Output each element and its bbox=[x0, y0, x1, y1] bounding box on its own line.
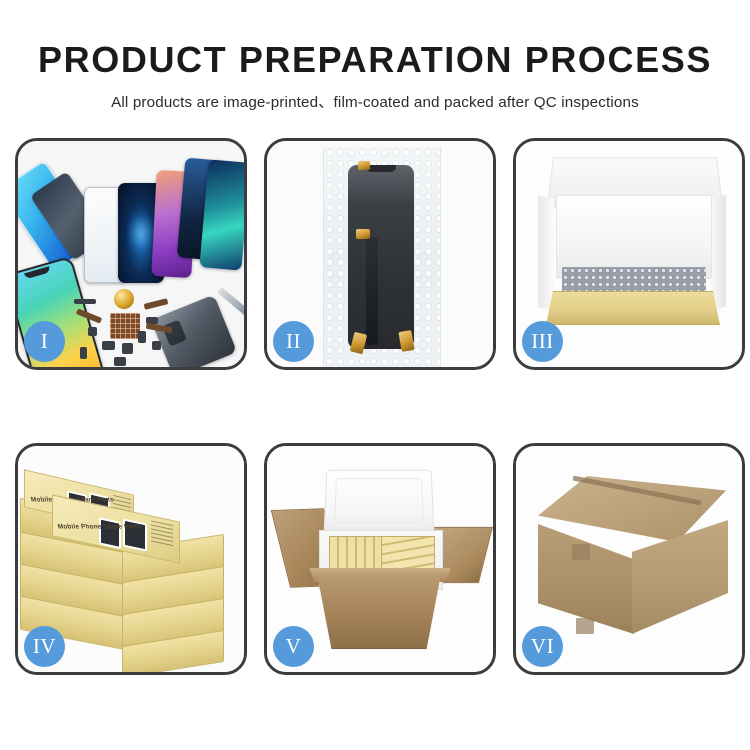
step-5-illustration: V bbox=[267, 446, 493, 672]
step-2-illustration: II bbox=[267, 141, 493, 367]
small-part bbox=[88, 327, 97, 336]
gold-connector-tab bbox=[358, 161, 370, 170]
step-badge-1: I bbox=[24, 321, 65, 362]
small-part bbox=[102, 341, 115, 350]
small-part bbox=[122, 343, 133, 354]
step-4-illustration: Mobile Phone Spare Parts Mobile Phone Sp… bbox=[18, 446, 244, 672]
vibration-motor-part bbox=[114, 289, 134, 309]
step-badge-6: VI bbox=[522, 626, 563, 667]
small-part bbox=[114, 357, 126, 366]
wrapped-flex-cable bbox=[366, 237, 378, 345]
page-subtitle: All products are image-printed、film-coat… bbox=[0, 79, 750, 112]
box-product-photo bbox=[99, 517, 121, 549]
carton-tape-patch bbox=[576, 618, 594, 634]
gold-connector-tab bbox=[356, 229, 370, 239]
step-panel-1[interactable]: I Mobile phone screens and spare compone… bbox=[15, 138, 247, 370]
small-part bbox=[152, 341, 161, 350]
page-header: PRODUCT PREPARATION PROCESS All products… bbox=[0, 0, 750, 112]
step-panel-4[interactable]: Mobile Phone Spare Parts Mobile Phone Sp… bbox=[15, 443, 247, 675]
foam-box-lid bbox=[324, 470, 435, 534]
page-title: PRODUCT PREPARATION PROCESS bbox=[0, 0, 750, 79]
carton-tape-patch bbox=[572, 544, 590, 560]
small-part bbox=[74, 299, 96, 304]
step-badge-3: III bbox=[522, 321, 563, 362]
circuit-board-part bbox=[110, 313, 140, 339]
step-badge-5: V bbox=[273, 626, 314, 667]
box-spec-lines bbox=[151, 520, 173, 549]
bubble-wrap-bag bbox=[323, 147, 441, 367]
step-6-illustration: VI bbox=[516, 446, 742, 672]
step-3-illustration: III bbox=[516, 141, 742, 367]
step-panel-3[interactable]: III Open yellow inner box with foam and … bbox=[513, 138, 745, 370]
small-part bbox=[80, 347, 87, 359]
carton-body bbox=[309, 576, 449, 649]
step-panel-2[interactable]: II Part sealed in bubble wrap film bbox=[264, 138, 496, 370]
step-badge-2: II bbox=[273, 321, 314, 362]
small-part bbox=[138, 331, 146, 343]
process-step-grid: I Mobile phone screens and spare compone… bbox=[15, 138, 746, 683]
wrapped-phone-part bbox=[348, 165, 414, 349]
step-panel-6[interactable]: VI Sealed brown shipping carton bbox=[513, 443, 745, 675]
box-brand-label: Mobile Phone Spare Parts bbox=[57, 523, 142, 530]
box-side-left bbox=[538, 195, 554, 312]
step-panel-5[interactable]: V Carton loaded with foam box containing… bbox=[264, 443, 496, 675]
box-front-kraft-panel bbox=[546, 291, 720, 325]
step-1-illustration: I bbox=[18, 141, 244, 367]
step-badge-4: IV bbox=[24, 626, 65, 667]
